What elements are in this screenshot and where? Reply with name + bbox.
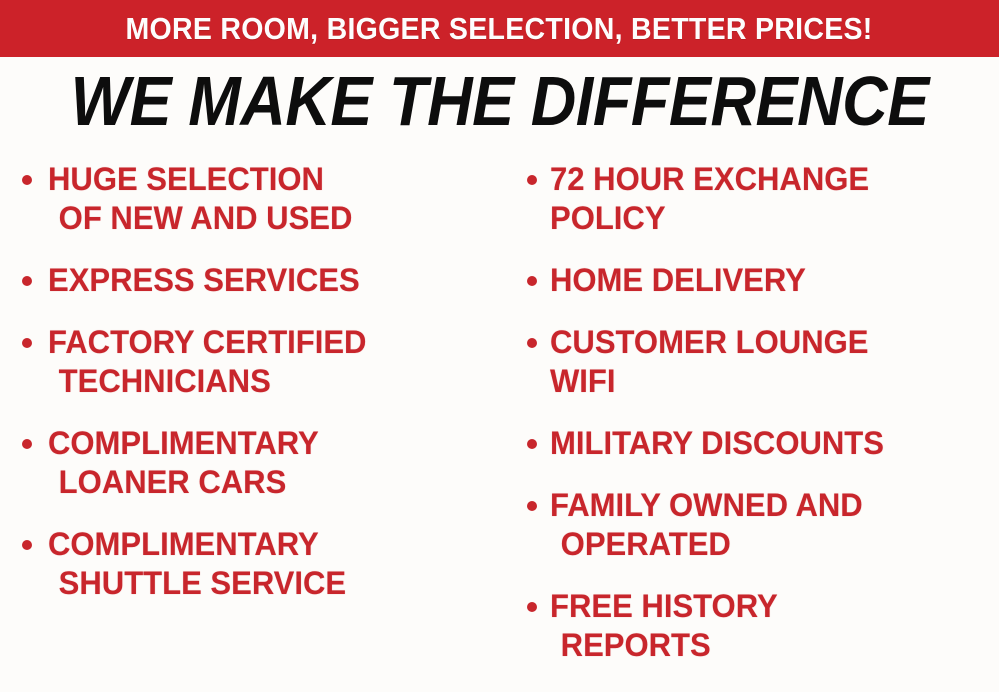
benefit-label-line1: EXPRESS SERVICES xyxy=(48,261,477,300)
benefit-item: COMPLIMENTARY LOANER CARS xyxy=(10,424,490,502)
bullet-dot-icon xyxy=(22,338,32,348)
benefit-item: COMPLIMENTARY SHUTTLE SERVICE xyxy=(10,525,490,603)
benefit-label-line2: REPORTS xyxy=(550,626,986,665)
benefit-item: FREE HISTORY REPORTS xyxy=(512,587,999,665)
bullet-dot-icon xyxy=(527,602,537,612)
benefit-item: HOME DELIVERY xyxy=(512,261,999,300)
benefit-label-line1: HOME DELIVERY xyxy=(550,261,986,300)
bullet-dot-icon xyxy=(527,338,537,348)
bullet-dot-icon xyxy=(22,439,32,449)
benefit-label-line1: COMPLIMENTARY xyxy=(48,424,477,463)
benefit-label-line2: POLICY xyxy=(550,199,986,238)
headline: WE MAKE THE DIFFERENCE xyxy=(0,66,999,136)
bullet-dot-icon xyxy=(22,276,32,286)
benefit-label-line1: MILITARY DISCOUNTS xyxy=(550,424,986,463)
benefits-left-column: HUGE SELECTION OF NEW AND USED EXPRESS S… xyxy=(10,160,490,603)
benefit-label-line1: HUGE SELECTION xyxy=(48,160,477,199)
headline-text: WE MAKE THE DIFFERENCE xyxy=(70,66,928,136)
benefit-label-line2: WIFI xyxy=(550,362,986,401)
benefit-label-line1: FACTORY CERTIFIED xyxy=(48,323,477,362)
benefits-right-column: 72 HOUR EXCHANGE POLICY HOME DELIVERY CU… xyxy=(512,160,999,665)
bullet-dot-icon xyxy=(527,175,537,185)
benefit-label-line1: FREE HISTORY xyxy=(550,587,986,626)
benefit-item: FAMILY OWNED AND OPERATED xyxy=(512,486,999,564)
benefit-item: CUSTOMER LOUNGE WIFI xyxy=(512,323,999,401)
benefit-item: HUGE SELECTION OF NEW AND USED xyxy=(10,160,490,238)
benefit-item: MILITARY DISCOUNTS xyxy=(512,424,999,463)
bullet-dot-icon xyxy=(527,439,537,449)
benefit-label-line2: LOANER CARS xyxy=(48,463,477,502)
benefit-item: EXPRESS SERVICES xyxy=(10,261,490,300)
benefit-label-line2: OF NEW AND USED xyxy=(48,199,477,238)
promo-banner: MORE ROOM, BIGGER SELECTION, BETTER PRIC… xyxy=(0,0,999,57)
benefit-label-line2: TECHNICIANS xyxy=(48,362,477,401)
benefit-label-line2: OPERATED xyxy=(550,525,986,564)
bullet-dot-icon xyxy=(22,540,32,550)
bullet-dot-icon xyxy=(527,501,537,511)
benefit-label-line1: 72 HOUR EXCHANGE xyxy=(550,160,986,199)
benefit-label-line2: SHUTTLE SERVICE xyxy=(48,564,477,603)
benefit-item: 72 HOUR EXCHANGE POLICY xyxy=(512,160,999,238)
benefit-label-line1: FAMILY OWNED AND xyxy=(550,486,986,525)
promo-banner-text: MORE ROOM, BIGGER SELECTION, BETTER PRIC… xyxy=(126,13,873,44)
benefit-label-line1: COMPLIMENTARY xyxy=(48,525,477,564)
bullet-dot-icon xyxy=(22,175,32,185)
benefit-item: FACTORY CERTIFIED TECHNICIANS xyxy=(10,323,490,401)
benefit-label-line1: CUSTOMER LOUNGE xyxy=(550,323,986,362)
bullet-dot-icon xyxy=(527,276,537,286)
